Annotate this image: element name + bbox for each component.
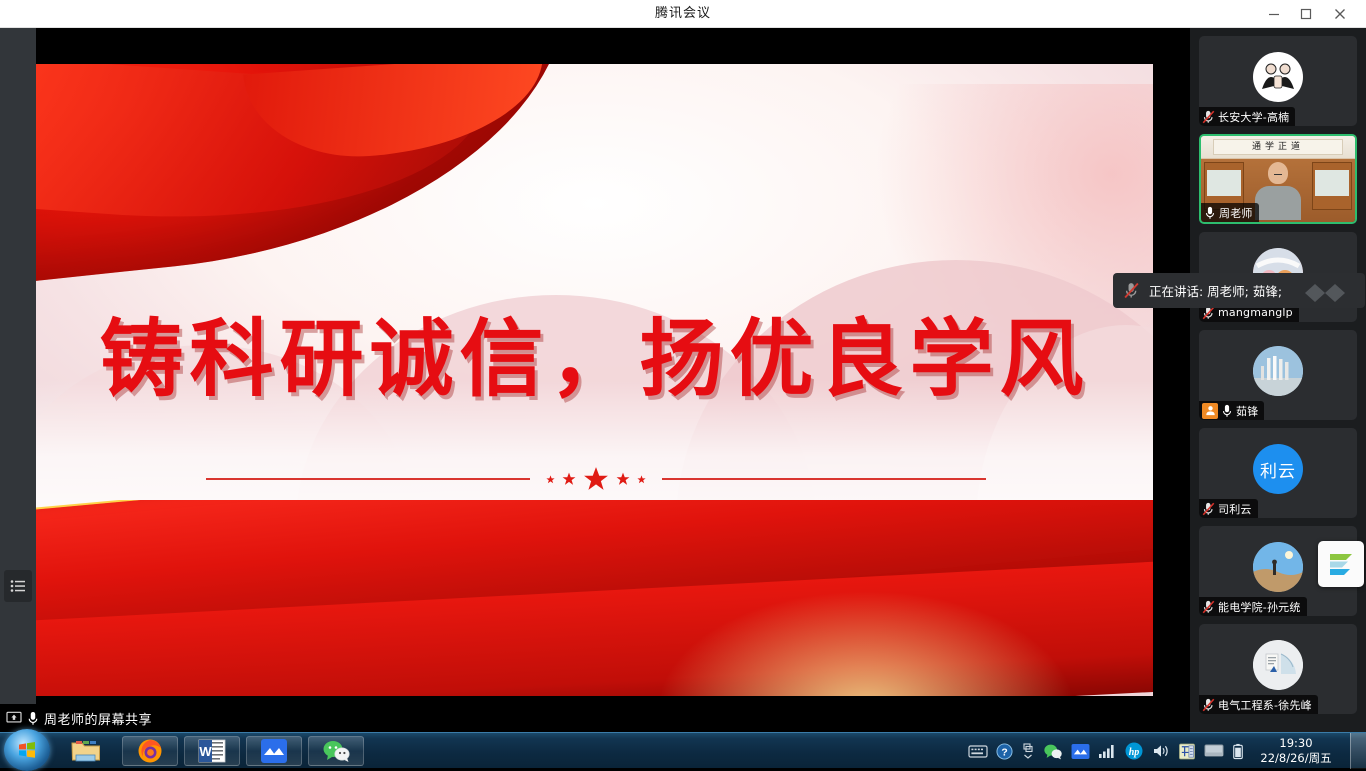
person-icon	[1205, 405, 1216, 416]
window-titlebar: 腾讯会议	[0, 0, 1366, 28]
hp-icon[interactable]: hp	[1124, 742, 1144, 760]
participant-name-bar: 茹锋	[1199, 401, 1264, 420]
taskbar-item-firefox[interactable]	[122, 736, 178, 766]
wechat-tray-icon[interactable]	[1043, 743, 1063, 760]
participant-name: 长安大学-高楠	[1218, 109, 1289, 125]
word-icon: W	[198, 738, 226, 764]
cartoon-people-avatar-icon	[1256, 55, 1300, 99]
avatar	[1253, 346, 1303, 396]
window-title: 腾讯会议	[0, 0, 1366, 28]
participant-panel[interactable]: 长安大学-高楠 通学正道 周老师	[1190, 28, 1366, 732]
svg-text:?: ?	[1001, 747, 1007, 758]
screen-share-icon	[6, 711, 22, 725]
start-button[interactable]	[4, 729, 50, 771]
slide-content: 铸科研诚信，扬优良学风 主讲人：周学政教授	[36, 64, 1153, 700]
star-icon	[546, 475, 555, 484]
microphone-muted-icon	[1124, 282, 1139, 299]
star-icon	[583, 466, 609, 492]
slide-letterbox	[36, 696, 1153, 700]
participant-name-bar: 司利云	[1199, 499, 1258, 518]
share-status-text: 周老师的屏幕共享	[44, 709, 152, 728]
participant-tile[interactable]: 长安大学-高楠	[1199, 36, 1357, 126]
ribbon-shine	[656, 590, 1076, 700]
wechat-icon	[322, 739, 350, 763]
snipaste-floating-button[interactable]	[1318, 541, 1364, 587]
taskbar-item-wechat[interactable]	[308, 736, 364, 766]
close-button[interactable]	[1324, 0, 1356, 28]
star-divider	[206, 464, 986, 494]
ime-icon[interactable]	[1178, 743, 1196, 760]
presentation-left-rail	[0, 28, 36, 704]
star-icon	[616, 472, 630, 486]
participant-tile[interactable]: 利云 司利云	[1199, 428, 1357, 518]
minimize-button[interactable]	[1258, 0, 1290, 28]
slide-outline-button[interactable]	[4, 570, 32, 602]
maximize-icon	[1300, 8, 1312, 20]
taskbar-clock[interactable]: 19:30 22/8/26/周五	[1248, 733, 1344, 769]
show-desktop-button[interactable]	[1350, 733, 1366, 769]
chevron-up-icon[interactable]	[1021, 742, 1035, 760]
taskbar-item-word[interactable]: W	[184, 736, 240, 766]
participant-name-bar: 长安大学-高楠	[1199, 107, 1295, 126]
microphone-muted-icon	[1202, 600, 1215, 614]
photo-monument-avatar-icon	[1253, 346, 1303, 396]
speaking-toast: 正在讲话: 周老师; 茹锋;	[1113, 273, 1365, 308]
shared-screen-stage: 铸科研诚信，扬优良学风 主讲人：周学政教授	[0, 28, 1190, 732]
maximize-button[interactable]	[1290, 0, 1322, 28]
participant-name: 周老师	[1219, 205, 1253, 221]
tencent-meeting-icon	[260, 738, 288, 764]
participant-name: 茹锋	[1236, 403, 1258, 419]
participant-name-bar: 电气工程系-徐先峰	[1199, 695, 1318, 714]
slide-surface: 铸科研诚信，扬优良学风 主讲人：周学政教授	[36, 28, 1153, 704]
avatar: 利云	[1253, 444, 1303, 494]
participant-name-bar: 能电学院-孙元统	[1199, 597, 1307, 616]
help-icon[interactable]: ?	[996, 743, 1013, 760]
participant-name-bar: 周老师	[1201, 203, 1259, 222]
host-badge	[1202, 403, 1218, 419]
participant-name: 电气工程系-徐先峰	[1218, 697, 1312, 713]
participant-tile[interactable]: 茹锋	[1199, 330, 1357, 420]
divider-line-right	[662, 478, 986, 480]
star-icon	[562, 472, 576, 486]
avatar	[1253, 542, 1303, 592]
volume-icon[interactable]	[1152, 743, 1170, 759]
system-tray[interactable]: ? hp	[968, 733, 1244, 769]
speaking-toast-text: 正在讲话: 周老师; 茹锋;	[1149, 281, 1282, 300]
share-status-bar: 周老师的屏幕共享	[0, 704, 1190, 732]
divider-line-left	[206, 478, 530, 480]
minimize-icon	[1268, 8, 1280, 20]
tencent-meeting-tray-icon[interactable]	[1071, 743, 1090, 760]
microphone-icon	[1221, 404, 1233, 418]
firefox-icon	[137, 738, 163, 764]
windows-logo-icon	[17, 740, 37, 760]
avatar	[1253, 52, 1303, 102]
divider-stars	[530, 466, 662, 492]
meeting-logo-watermark-icon	[1301, 279, 1357, 303]
photo-desk-avatar-icon	[1253, 640, 1303, 690]
battery-icon[interactable]	[1232, 743, 1244, 760]
participant-name: 能电学院-孙元统	[1218, 599, 1301, 615]
participant-tile[interactable]: 电气工程系-徐先峰	[1199, 624, 1357, 714]
taskbar-item-file-explorer[interactable]	[62, 736, 110, 766]
microphone-muted-icon	[1202, 698, 1215, 712]
clock-time: 19:30	[1279, 736, 1312, 751]
star-icon	[637, 475, 646, 484]
network-signal-icon[interactable]	[1098, 743, 1116, 759]
windows-taskbar: W ?	[0, 732, 1366, 768]
avatar	[1253, 640, 1303, 690]
microphone-icon	[1204, 206, 1216, 220]
svg-text:hp: hp	[1129, 747, 1140, 758]
participant-name: 司利云	[1218, 501, 1252, 517]
taskbar-item-tencent-meeting[interactable]	[246, 736, 302, 766]
snipaste-icon	[1326, 550, 1356, 578]
avatar-initials: 利云	[1260, 457, 1296, 482]
slide-ribbon	[36, 500, 1153, 700]
microphone-muted-icon	[1202, 502, 1215, 516]
microphone-icon	[27, 711, 39, 726]
touchpad-icon[interactable]	[1204, 743, 1224, 759]
svg-text:W: W	[199, 744, 212, 759]
microphone-muted-icon	[1202, 110, 1215, 124]
list-icon	[10, 579, 26, 593]
clock-date: 22/8/26/周五	[1260, 751, 1331, 766]
close-icon	[1334, 8, 1346, 20]
slide-title: 铸科研诚信，扬优良学风	[36, 292, 1153, 413]
keyboard-icon[interactable]	[968, 743, 988, 759]
photo-landscape-avatar-icon	[1253, 542, 1303, 592]
participant-tile-active[interactable]: 通学正道 周老师	[1199, 134, 1357, 224]
file-explorer-icon	[71, 738, 101, 764]
